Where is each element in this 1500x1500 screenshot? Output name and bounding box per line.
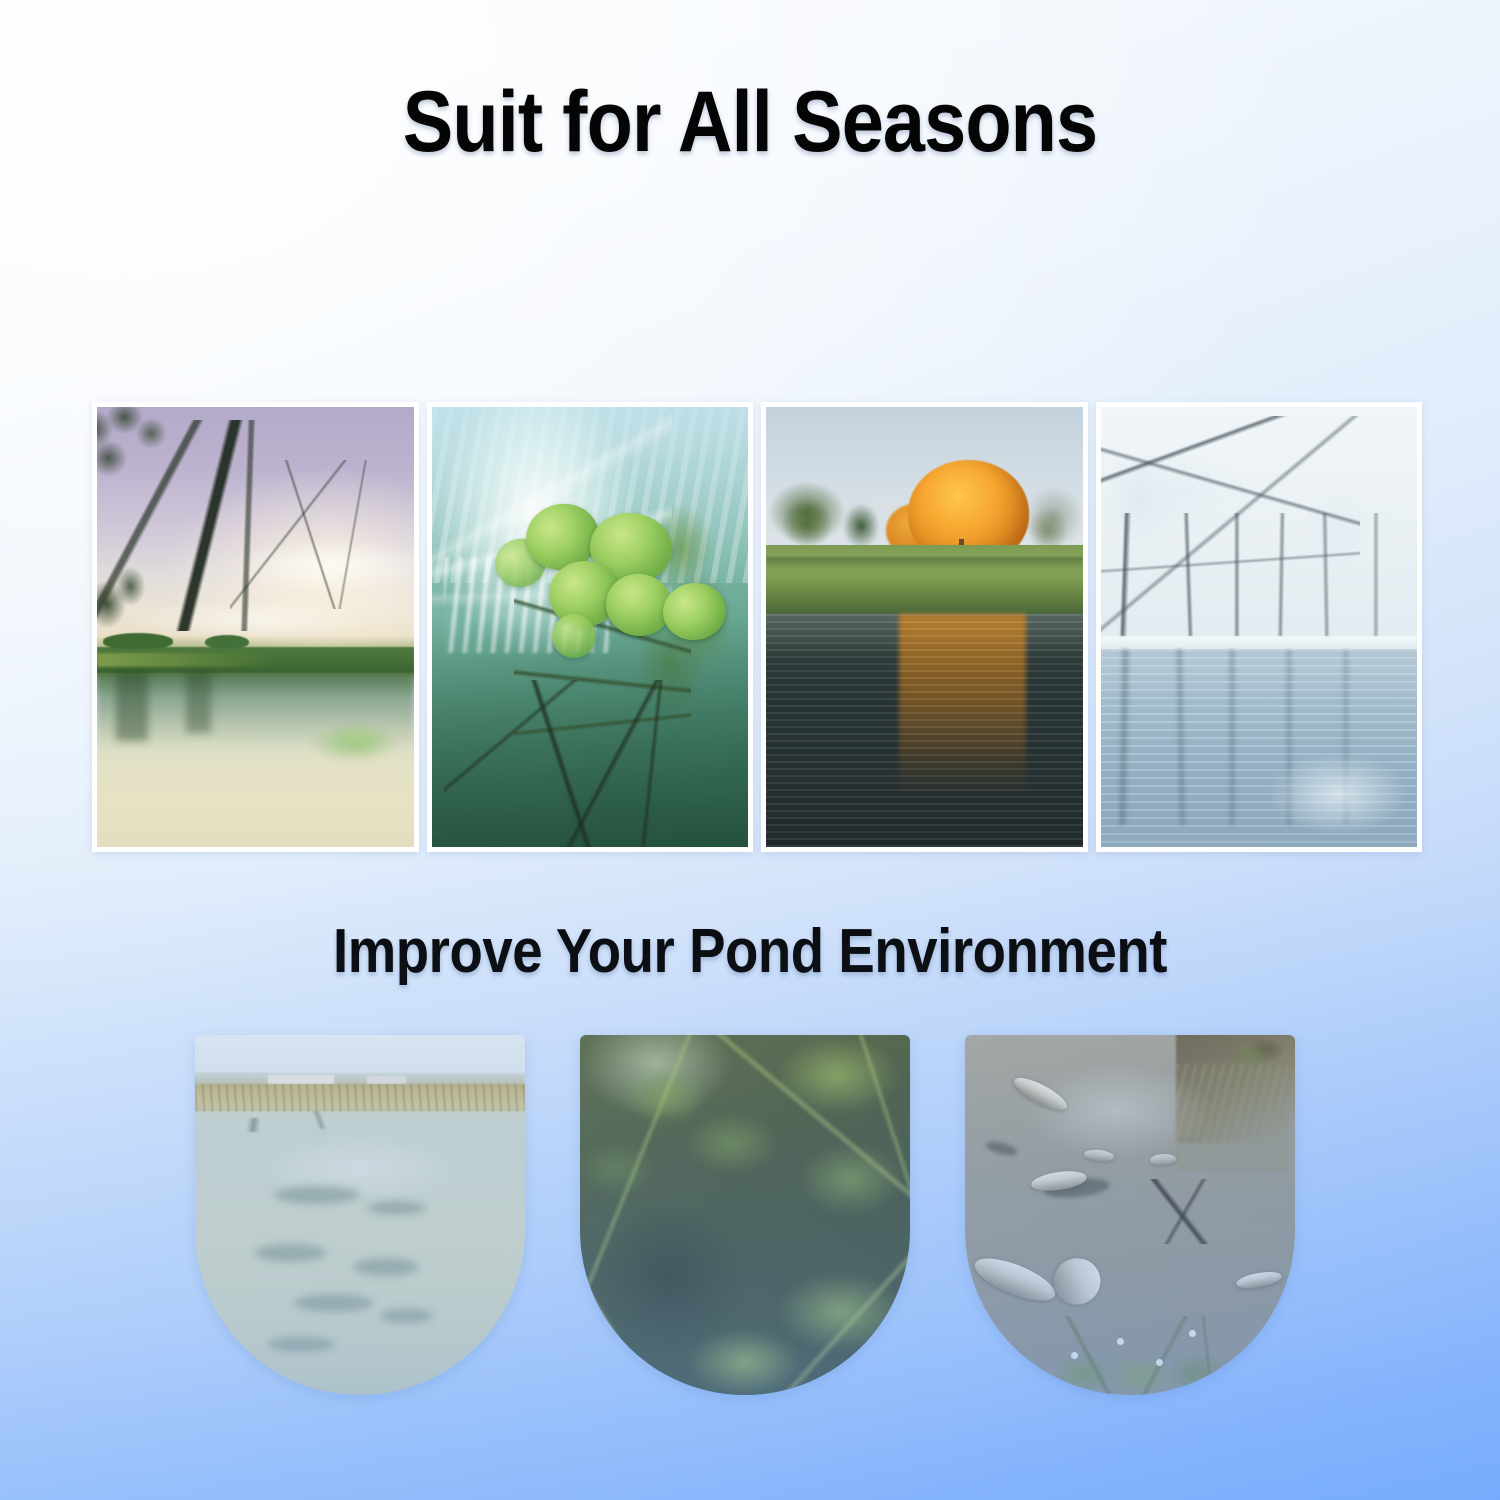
tree-reflection-mid <box>186 671 211 733</box>
water-highlight <box>1246 741 1417 847</box>
season-photo-row <box>92 402 1422 852</box>
summer-photo-image <box>432 407 749 847</box>
floating-stick <box>1150 1179 1223 1244</box>
page-title: Suit for All Seasons <box>90 74 1410 170</box>
environment-photo-murky-pond <box>195 1035 525 1395</box>
season-photo-autumn <box>761 402 1088 852</box>
environment-photo-row <box>195 1035 1295 1395</box>
bank-shadow <box>766 557 1083 570</box>
season-photo-spring <box>92 402 419 852</box>
submerged-shape <box>380 1309 433 1323</box>
water-sheen <box>221 1121 498 1215</box>
environment-photo-fish-kill <box>965 1035 1295 1395</box>
weed-blades <box>580 1035 910 1395</box>
season-photo-summer <box>427 402 754 852</box>
snow-bank <box>1101 636 1418 650</box>
dead-fish <box>1235 1269 1283 1291</box>
submerged-shape <box>254 1244 327 1262</box>
season-photo-winter <box>1096 402 1423 852</box>
dead-fish <box>969 1250 1059 1309</box>
leaf-foliage-lower <box>97 521 198 671</box>
section-subtitle: Improve Your Pond Environment <box>90 916 1410 988</box>
tree-reflection-left <box>116 671 148 741</box>
white-flower <box>1117 1338 1124 1345</box>
reed-texture <box>195 1084 525 1113</box>
white-flower <box>1071 1352 1078 1359</box>
dead-fish <box>1046 1251 1108 1312</box>
winter-photo-image <box>1101 407 1418 847</box>
lily-pad-cluster-2 <box>319 719 401 754</box>
submerged-shape <box>367 1201 426 1215</box>
autumn-photo-image <box>766 407 1083 847</box>
water-ripples <box>766 614 1083 847</box>
submerged-shape <box>268 1337 334 1351</box>
submerged-branches <box>444 680 748 847</box>
weed-stems <box>1018 1316 1275 1395</box>
tree-trunks <box>1101 513 1418 645</box>
bare-twigs <box>230 460 395 610</box>
spring-photo-image <box>97 407 414 847</box>
environment-photo-algae-overgrowth <box>580 1035 910 1395</box>
marketing-image: Suit for All Seasons <box>0 0 1500 1500</box>
water-sheen <box>998 1049 1236 1171</box>
